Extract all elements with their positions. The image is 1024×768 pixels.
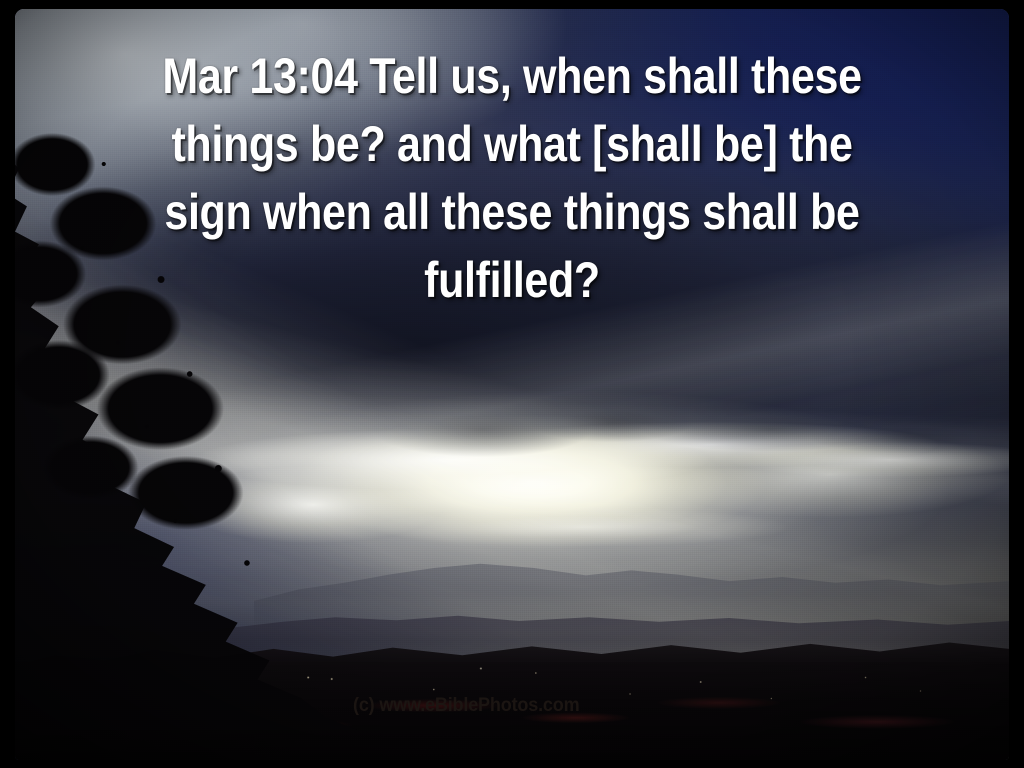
- tree-leaf-sprigs: [25, 122, 383, 648]
- photograph: (c) www.eBiblePhotos.com: [15, 9, 1009, 760]
- town-lights: [214, 655, 999, 730]
- copyright-watermark: (c) www.eBiblePhotos.com: [353, 696, 579, 715]
- verse-image-canvas: (c) www.eBiblePhotos.com Mar 13:04 Tell …: [0, 0, 1024, 768]
